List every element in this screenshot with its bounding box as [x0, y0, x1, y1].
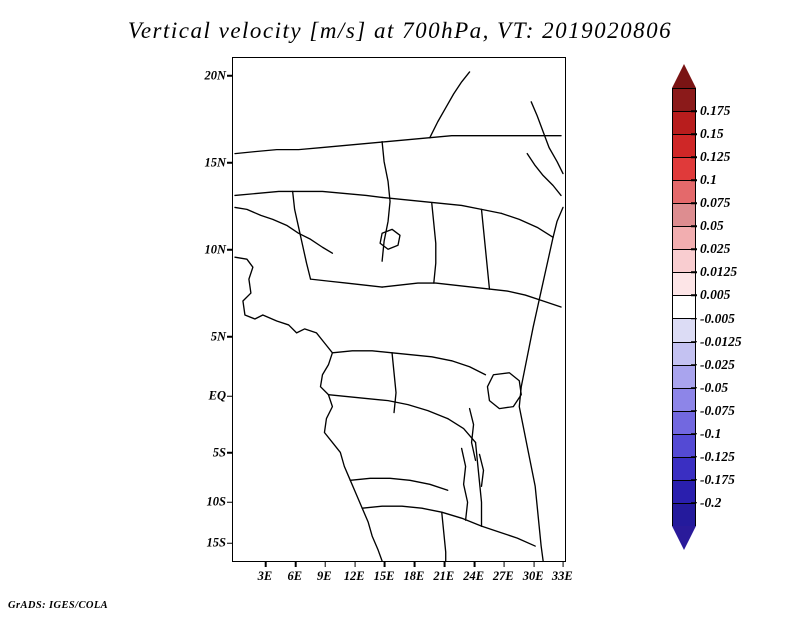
page-title: Vertical velocity [m/s] at 700hPa, VT: 2…: [0, 18, 800, 44]
colorbar-tick-label: 0.1: [700, 172, 717, 188]
y-axis-tick-label: 10S: [207, 495, 226, 510]
colorbar-tick-label: 0.175: [700, 103, 730, 119]
colorbar-tick-label: -0.025: [700, 357, 735, 373]
x-axis-tick-label: 12E: [344, 569, 365, 584]
colorbar-swatch: [673, 435, 695, 458]
colorbar-swatch: [673, 112, 695, 135]
colorbar-tick-label: -0.05: [700, 380, 728, 396]
colorbar-tick-label: -0.0125: [700, 334, 742, 350]
colorbar-swatch: [673, 89, 695, 112]
colorbar-swatch: [673, 481, 695, 504]
colorbar-swatch: [673, 273, 695, 296]
colorbar-tick-label: -0.175: [700, 472, 735, 488]
colorbar-swatch: [673, 389, 695, 412]
colorbar-tick-label: 0.025: [700, 241, 730, 257]
colorbar-swatch: [673, 204, 695, 227]
x-axis-tick-label: 24E: [463, 569, 484, 584]
colorbar-tick-label: 0.15: [700, 126, 724, 142]
colorbar-min-arrow: [672, 526, 696, 550]
colorbar-swatch: [673, 458, 695, 481]
colorbar-tick-label: -0.005: [700, 311, 735, 327]
x-axis-tick-label: 21E: [433, 569, 454, 584]
y-axis-tick-label: 5N: [211, 329, 226, 344]
colorbar-swatch: [673, 319, 695, 342]
colorbar-swatch: [673, 296, 695, 319]
x-axis-tick-label: 30E: [523, 569, 544, 584]
x-axis-tick-label: 18E: [404, 569, 425, 584]
x-axis-tick-label: 6E: [287, 569, 302, 584]
colorbar-max-arrow: [672, 64, 696, 88]
colorbar-tick-label: -0.1: [700, 426, 721, 442]
colorbar-tick-label: 0.075: [700, 195, 730, 211]
colorbar-tick-label: 0.125: [700, 149, 730, 165]
colorbar-swatch: [673, 227, 695, 250]
colorbar-tick-label: -0.125: [700, 449, 735, 465]
y-axis-tick-label: EQ: [209, 389, 226, 404]
y-axis-tick-label: 10N: [204, 242, 226, 257]
colorbar-swatch: [673, 181, 695, 204]
y-axis-tick-label: 20N: [204, 68, 226, 83]
colorbar-swatch: [673, 135, 695, 158]
x-axis-tick-label: 3E: [258, 569, 273, 584]
colorbar: 0.1750.150.1250.10.0750.050.0250.01250.0…: [672, 64, 696, 550]
colorbar-swatch: [673, 504, 695, 527]
map-plot-area: 20N 15N 10N 5N EQ 5S 10S 15S 3E 6E 9E 12…: [232, 57, 566, 562]
colorbar-swatches: [672, 88, 696, 526]
colorbar-swatch: [673, 343, 695, 366]
grads-attribution: GrADS: IGES/COLA: [8, 600, 108, 611]
x-axis-tick-label: 15E: [374, 569, 395, 584]
colorbar-tick-label: 0.005: [700, 287, 730, 303]
colorbar-tick-label: -0.075: [700, 403, 735, 419]
colorbar-swatch: [673, 366, 695, 389]
colorbar-tick-label: 0.05: [700, 218, 724, 234]
y-axis-tick-label: 5S: [213, 445, 226, 460]
colorbar-tick-label: -0.2: [700, 495, 721, 511]
y-axis-tick-label: 15N: [204, 155, 226, 170]
colorbar-swatch: [673, 250, 695, 273]
colorbar-swatch: [673, 158, 695, 181]
x-axis-tick-label: 9E: [317, 569, 332, 584]
y-axis-tick-label: 15S: [207, 536, 226, 551]
colorbar-swatch: [673, 412, 695, 435]
geography-overlay: [233, 58, 565, 561]
x-axis-tick-label: 27E: [493, 569, 514, 584]
colorbar-tick-label: 0.0125: [700, 264, 737, 280]
x-axis-tick-label: 33E: [552, 569, 573, 584]
